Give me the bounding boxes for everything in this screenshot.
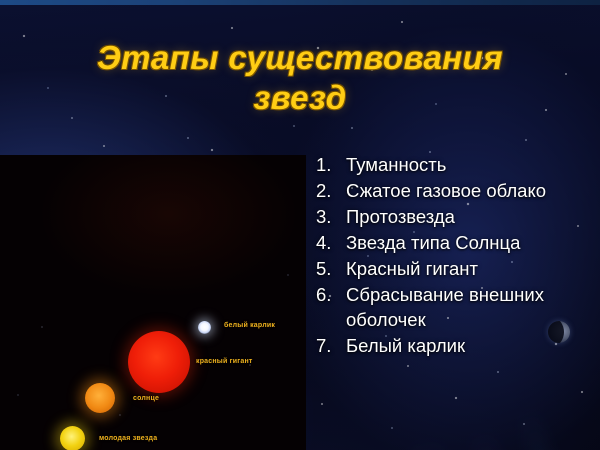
list-item-number: 6. (316, 282, 346, 307)
list-item-label: Красный гигант (346, 256, 594, 281)
list-item: 2. Сжатое газовое облако (316, 178, 594, 203)
young-star-label: молодая звезда (99, 435, 157, 442)
list-item: 3. Протозвезда (316, 204, 594, 229)
sun-label: солнце (133, 395, 159, 402)
sun-orb (85, 383, 115, 413)
list-item-number: 4. (316, 230, 346, 255)
list-item-label: Белый карлик (346, 333, 594, 358)
stages-list: 1. Туманность 2. Сжатое газовое облако 3… (316, 152, 594, 359)
diagram-starfield (0, 155, 306, 450)
red-giant-label: красный гигант (196, 358, 253, 365)
presentation-slide: Этапы существования звезд белый карлик к… (0, 0, 600, 450)
list-item-label: Туманность (346, 152, 594, 177)
list-item-label: Сбрасывание внешних оболочек (346, 282, 594, 332)
list-item-number: 5. (316, 256, 346, 281)
list-item-label: Протозвезда (346, 204, 594, 229)
white-dwarf-orb (198, 321, 211, 334)
list-item-number: 3. (316, 204, 346, 229)
page-title: Этапы существования звезд (40, 38, 560, 118)
list-item-label: Звезда типа Солнца (346, 230, 594, 255)
list-item-number: 7. (316, 333, 346, 358)
list-item: 6. Сбрасывание внешних оболочек (316, 282, 594, 332)
list-item-label: Сжатое газовое облако (346, 178, 594, 203)
list-item-number: 1. (316, 152, 346, 177)
young-star-orb (60, 426, 85, 450)
white-dwarf-label: белый карлик (224, 322, 275, 329)
list-item: 4. Звезда типа Солнца (316, 230, 594, 255)
list-item: 1. Туманность (316, 152, 594, 177)
list-item-number: 2. (316, 178, 346, 203)
list-item: 7. Белый карлик (316, 333, 594, 358)
top-edge-strip (0, 0, 600, 5)
list-item: 5. Красный гигант (316, 256, 594, 281)
star-lifecycle-diagram: белый карлик красный гигант солнце молод… (0, 155, 306, 450)
red-giant-orb (128, 331, 190, 393)
